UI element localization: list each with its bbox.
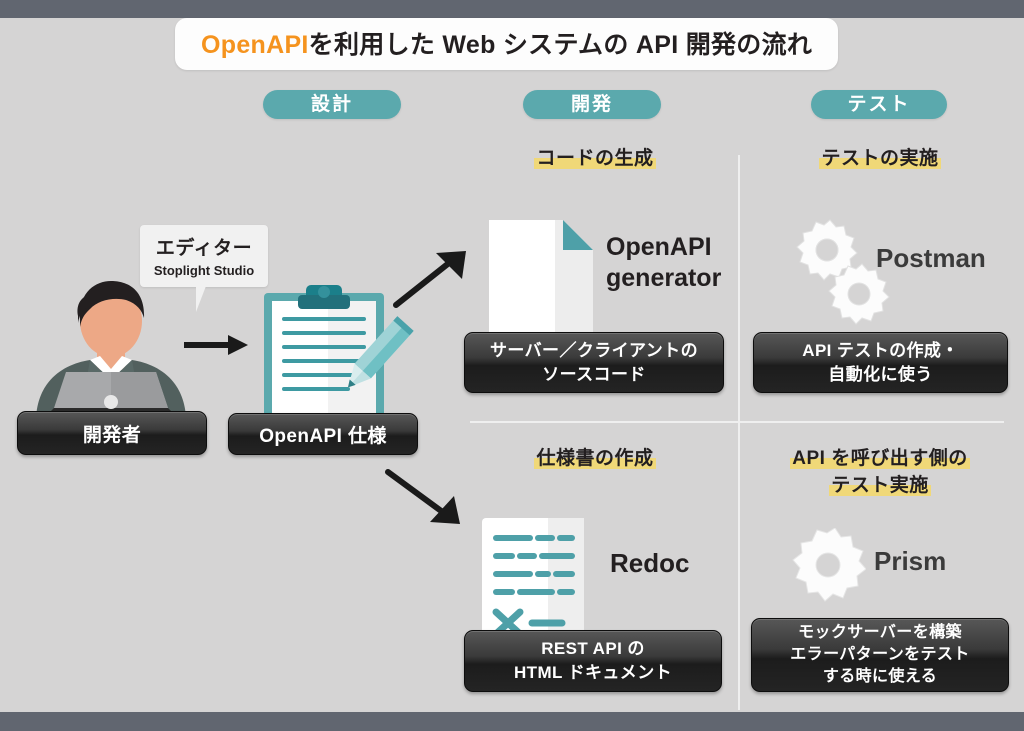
label-prism-usage: モックサーバーを構築 エラーパターンをテスト する時に使える (751, 618, 1009, 692)
label-generator-output: サーバー／クライアントの ソースコード (464, 332, 724, 393)
subhead-caller-test-line1: API を呼び出す側の (790, 448, 969, 469)
horizontal-divider (470, 421, 1004, 423)
vertical-divider (738, 155, 740, 710)
label-redoc-output: REST API の HTML ドキュメント (464, 630, 722, 692)
page-title: OpenAPIを利用した Web システムの API 開発の流れ (175, 18, 838, 70)
label-postman-usage: API テストの作成・ 自動化に使う (753, 332, 1008, 393)
arrow-up-right-icon (392, 245, 478, 311)
product-name-redoc: Redoc (610, 548, 689, 579)
subhead-code-generation: コードの生成 (470, 145, 720, 172)
phase-pill-test: テスト (811, 90, 947, 119)
document-lines-icon (478, 516, 588, 644)
phase-pill-design: 設計 (263, 90, 401, 119)
editor-callout-title: エディター (140, 233, 268, 260)
product-name-prism: Prism (874, 546, 946, 577)
gears-icon (778, 218, 890, 328)
subhead-spec-creation-text: 仕様書の作成 (534, 448, 655, 469)
subhead-spec-creation: 仕様書の作成 (470, 445, 720, 472)
subhead-caller-test-line2: テスト実施 (829, 475, 931, 496)
label-prism-line3: する時に使える (790, 666, 969, 688)
subhead-test-execution: テストの実施 (760, 145, 1000, 172)
product-name-line1: OpenAPI (606, 233, 712, 261)
bottom-band (0, 712, 1024, 731)
infographic-canvas: OpenAPIを利用した Web システムの API 開発の流れ 設計 開発 テ… (0, 0, 1024, 731)
label-openapi-spec: OpenAPI 仕様 (228, 413, 418, 455)
top-band (0, 0, 1024, 18)
phase-pill-development: 開発 (523, 90, 661, 119)
title-brand: OpenAPI (201, 31, 309, 59)
label-generator-line2: ソースコード (490, 363, 698, 387)
product-name-openapi-generator: OpenAPI generator (606, 232, 721, 294)
label-postman-line1: API テストの作成・ (802, 339, 958, 363)
product-name-line2: generator (606, 264, 721, 292)
arrow-down-right-icon (384, 466, 474, 532)
label-postman-line2: 自動化に使う (802, 363, 958, 387)
subhead-caller-test: API を呼び出す側の テスト実施 (755, 445, 1005, 499)
pencil-icon (330, 311, 418, 403)
subhead-test-execution-text: テストの実施 (819, 148, 940, 169)
label-redoc-line2: HTML ドキュメント (514, 661, 672, 685)
gear-icon (790, 528, 866, 604)
label-prism-line1: モックサーバーを構築 (790, 622, 969, 644)
developer-illustration (18, 276, 204, 418)
label-generator-line1: サーバー／クライアントの (490, 339, 698, 363)
title-rest: を利用した Web システムの API 開発の流れ (309, 31, 813, 59)
label-redoc-line1: REST API の (514, 637, 672, 661)
label-developer: 開発者 (17, 411, 207, 455)
arrow-right-icon (182, 330, 254, 360)
label-prism-line2: エラーパターンをテスト (790, 644, 969, 666)
product-name-postman: Postman (876, 243, 986, 274)
subhead-code-generation-text: コードの生成 (534, 148, 655, 169)
